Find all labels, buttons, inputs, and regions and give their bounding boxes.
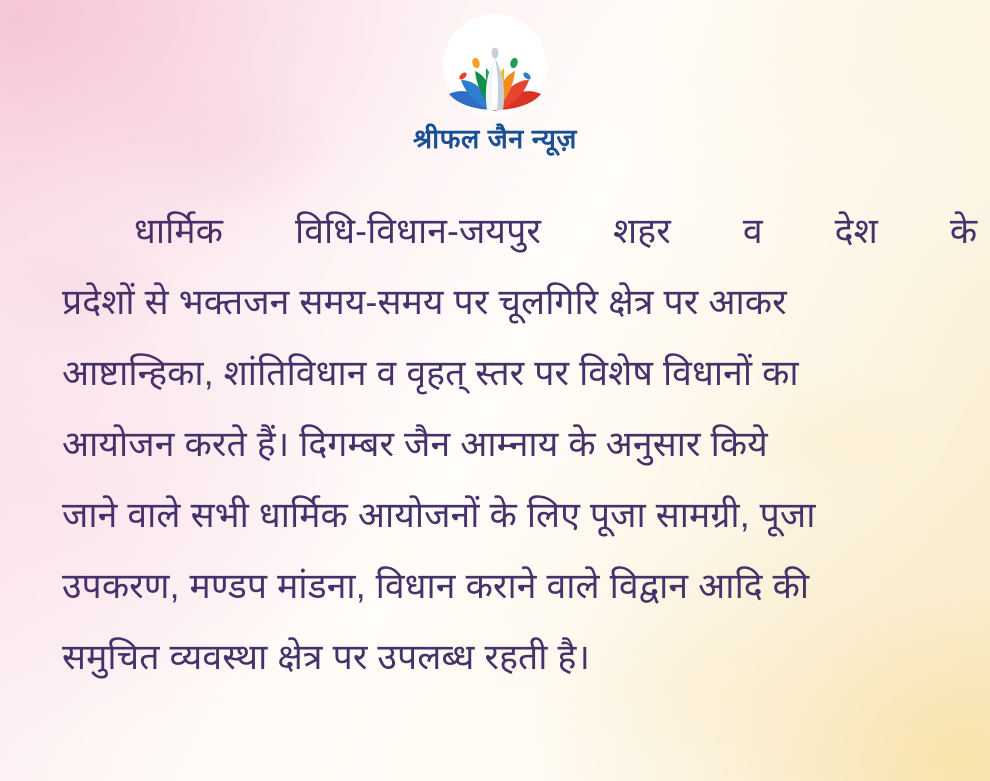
- news-poster: श्रीफल जैन न्यूज़ धार्मिक विधि-विधान-जयप…: [0, 0, 990, 781]
- article-word: विधि-विधान-जयपुर: [223, 196, 541, 267]
- article-word: के: [878, 196, 977, 267]
- article-line: जाने वाले सभी धार्मिक आयोजनों के लिए पूज…: [62, 480, 928, 551]
- article-word: धार्मिक: [62, 196, 223, 267]
- article-line: आष्टान्हिका, शांतिविधान व वृहत् स्तर पर …: [62, 338, 928, 409]
- article-word: व: [671, 196, 763, 267]
- article-word: देश: [763, 196, 878, 267]
- article-line: धार्मिक विधि-विधान-जयपुर शहर व देश के वि…: [62, 196, 928, 267]
- article-body: धार्मिक विधि-विधान-जयपुर शहर व देश के वि…: [62, 196, 928, 693]
- article-line: प्रदेशों से भक्तजन समय-समय पर चूलगिरि क्…: [62, 267, 928, 338]
- article-line: उपकरण, मण्डप मांडना, विधान कराने वाले वि…: [62, 551, 928, 622]
- article-line: आयोजन करते हैं। दिगम्बर जैन आम्नाय के अन…: [62, 409, 928, 480]
- lotus-flame-logo-icon: [443, 14, 547, 118]
- article-word: विभिन्न: [977, 196, 990, 267]
- article-line: समुचित व्यवस्था क्षेत्र पर उपलब्ध रहती ह…: [62, 622, 928, 693]
- brand-name: श्रीफल जैन न्यूज़: [413, 119, 577, 156]
- logo-block: श्रीफल जैन न्यूज़: [0, 14, 990, 156]
- article-word: शहर: [541, 196, 671, 267]
